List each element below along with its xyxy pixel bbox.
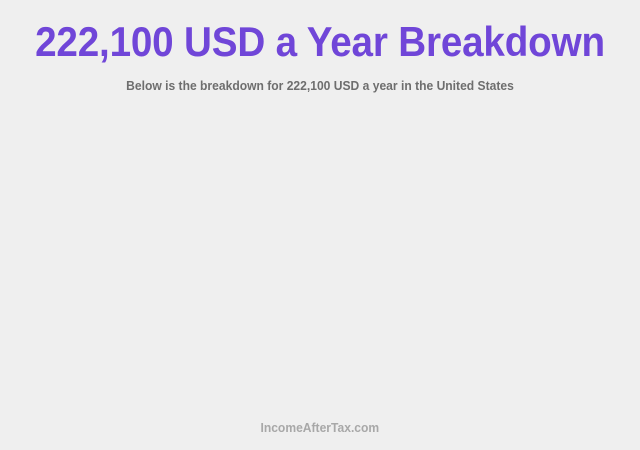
page-subtitle: Below is the breakdown for 222,100 USD a…: [22, 65, 617, 94]
site-watermark: IncomeAfterTax.com: [261, 420, 380, 436]
income-breakdown-page: 222,100 USD a Year Breakdown Below is th…: [0, 0, 640, 450]
page-footer: IncomeAfterTax.com: [0, 419, 640, 450]
chart-area: [0, 94, 640, 419]
page-title: 222,100 USD a Year Breakdown: [26, 19, 615, 65]
page-header: 222,100 USD a Year Breakdown Below is th…: [0, 0, 640, 94]
chart-canvas: [40, 104, 600, 409]
